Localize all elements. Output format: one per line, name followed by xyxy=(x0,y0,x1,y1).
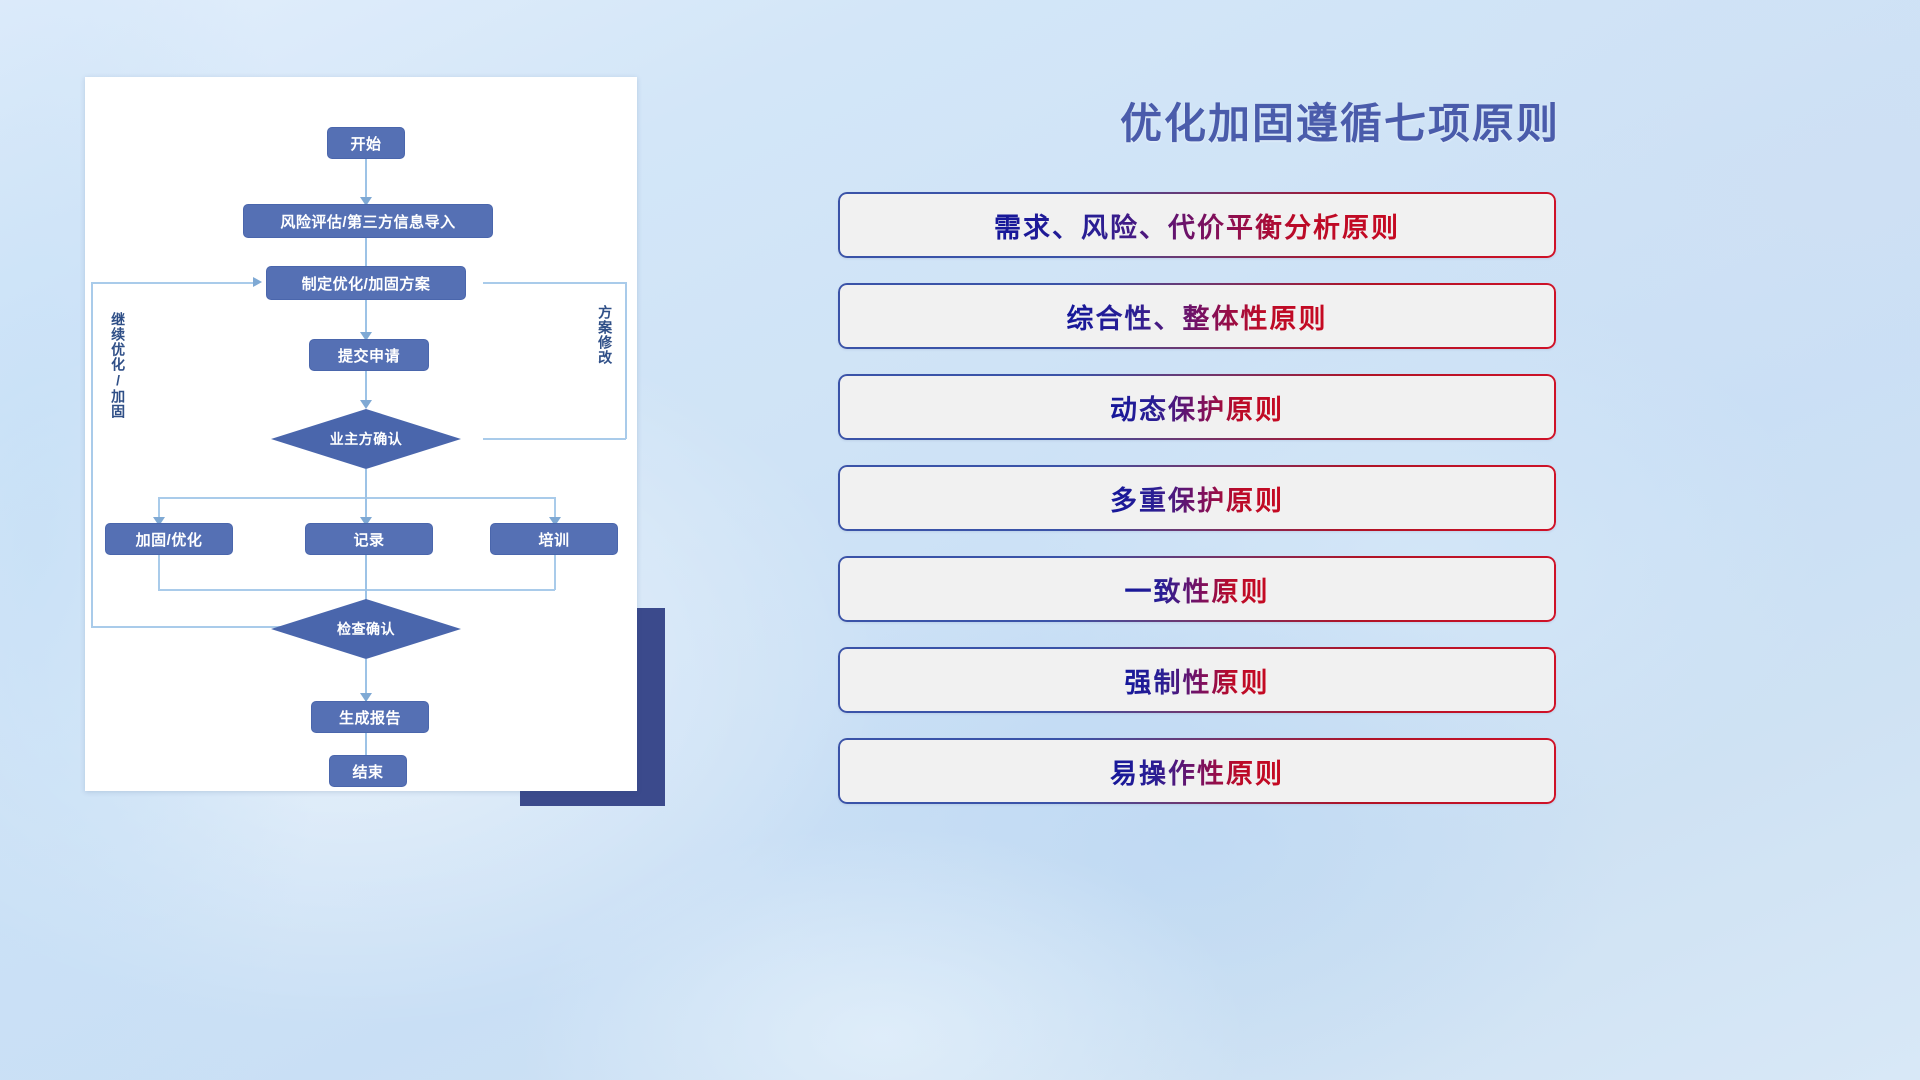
node-submit[interactable]: 提交申请 xyxy=(309,339,429,371)
edge-label-right-loop: 方案修改 xyxy=(597,305,612,365)
page-title: 优化加固遵循七项原则 xyxy=(760,90,1920,151)
edge-merge-bar xyxy=(158,589,555,591)
principle-label: 动态保护原则 xyxy=(1110,388,1284,427)
principle-item[interactable]: 动态保护原则 xyxy=(838,374,1556,440)
node-make-plan[interactable]: 制定优化/加固方案 xyxy=(266,266,466,300)
principle-label: 综合性、整体性原则 xyxy=(1067,297,1328,336)
principle-item[interactable]: 综合性、整体性原则 xyxy=(838,283,1556,349)
node-reinforce-label: 加固/优化 xyxy=(136,529,203,550)
principles-list: 需求、风险、代价平衡分析原则 综合性、整体性原则 动态保护原则 多重保护原则 一… xyxy=(838,192,1556,829)
node-end-label: 结束 xyxy=(352,761,383,782)
node-risk-assessment-label: 风险评估/第三方信息导入 xyxy=(280,211,455,232)
edge-left-loop-vertical xyxy=(91,282,93,627)
principle-label: 易操作性原则 xyxy=(1110,752,1284,791)
principle-item[interactable]: 易操作性原则 xyxy=(838,738,1556,804)
edge-start-to-risk xyxy=(365,159,367,200)
node-training[interactable]: 培训 xyxy=(490,523,618,555)
edge-reinforce-merge xyxy=(158,555,160,590)
node-record[interactable]: 记录 xyxy=(305,523,433,555)
node-check-confirm-label: 检查确认 xyxy=(271,599,461,659)
principle-item[interactable]: 需求、风险、代价平衡分析原则 xyxy=(838,192,1556,258)
principle-label: 多重保护原则 xyxy=(1110,479,1284,518)
principle-item[interactable]: 强制性原则 xyxy=(838,647,1556,713)
node-training-label: 培训 xyxy=(538,529,569,550)
edge-label-left-loop: 继续优化/加固 xyxy=(110,312,125,419)
edge-right-loop-bottom xyxy=(483,438,626,440)
principle-item[interactable]: 多重保护原则 xyxy=(838,465,1556,531)
node-generate-report-label: 生成报告 xyxy=(339,707,401,728)
flowchart-panel: 开始 风险评估/第三方信息导入 制定优化/加固方案 继续优化/加固 方案修改 提… xyxy=(0,0,760,1080)
principle-label: 强制性原则 xyxy=(1125,661,1270,700)
node-start-label: 开始 xyxy=(350,133,381,154)
node-reinforce[interactable]: 加固/优化 xyxy=(105,523,233,555)
edge-right-loop-top xyxy=(483,282,626,284)
node-make-plan-label: 制定优化/加固方案 xyxy=(302,273,431,294)
flowchart-card: 开始 风险评估/第三方信息导入 制定优化/加固方案 继续优化/加固 方案修改 提… xyxy=(85,77,637,791)
principle-label: 需求、风险、代价平衡分析原则 xyxy=(994,206,1400,245)
node-generate-report[interactable]: 生成报告 xyxy=(311,701,429,733)
node-end[interactable]: 结束 xyxy=(329,755,407,787)
edge-training-merge xyxy=(554,555,556,590)
node-start[interactable]: 开始 xyxy=(327,127,405,159)
node-check-confirm[interactable]: 检查确认 xyxy=(271,599,461,659)
edge-right-loop-vertical xyxy=(625,282,627,439)
principles-panel: 优化加固遵循七项原则 需求、风险、代价平衡分析原则 综合性、整体性原则 动态保护… xyxy=(760,0,1920,1080)
node-submit-label: 提交申请 xyxy=(338,345,400,366)
node-record-label: 记录 xyxy=(353,529,384,550)
arrowhead-submit-to-owner xyxy=(360,400,372,409)
node-owner-confirm[interactable]: 业主方确认 xyxy=(271,409,461,469)
edge-owner-fanout xyxy=(158,497,555,499)
node-owner-confirm-label: 业主方确认 xyxy=(271,409,461,469)
edge-owner-down xyxy=(365,469,367,498)
principle-label: 一致性原则 xyxy=(1125,570,1270,609)
node-risk-assessment[interactable]: 风险评估/第三方信息导入 xyxy=(243,204,493,238)
edge-left-loop-arrowhead xyxy=(253,277,262,287)
principle-item[interactable]: 一致性原则 xyxy=(838,556,1556,622)
flowchart-canvas: 开始 风险评估/第三方信息导入 制定优化/加固方案 继续优化/加固 方案修改 提… xyxy=(85,77,637,791)
edge-left-loop-top xyxy=(91,282,255,284)
